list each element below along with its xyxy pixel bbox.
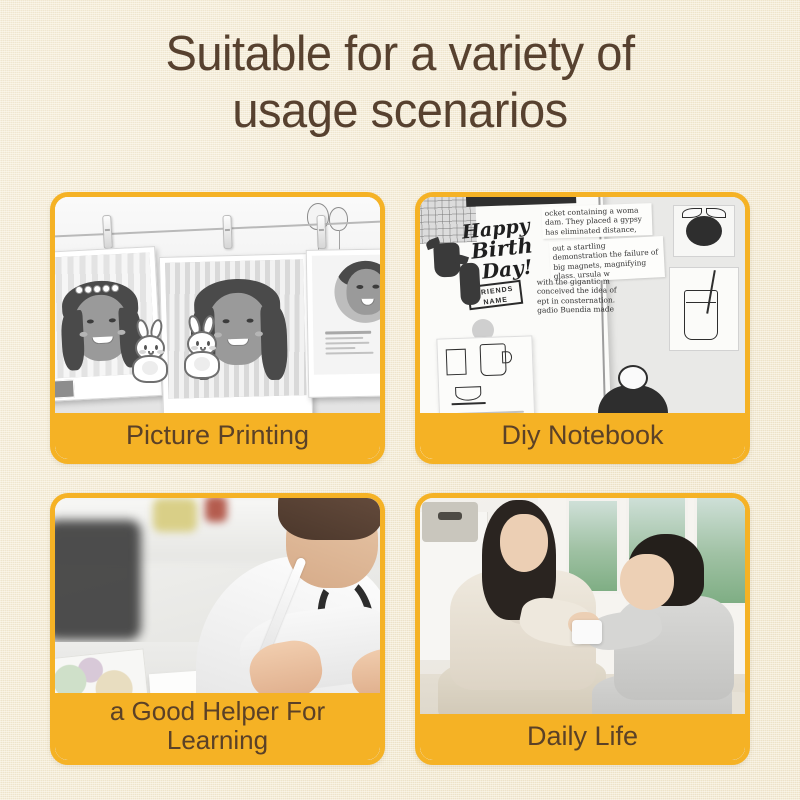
scenario-card-diy-notebook[interactable]: Happy Birth Day! FRIENDS NAME ocket cont… <box>415 192 750 464</box>
notebook-text-strip-1: ocket containing a woma dam. They placed… <box>541 203 652 239</box>
scenario-card-picture-printing[interactable]: Picture Printing <box>50 192 385 464</box>
page-title-line-2: usage scenarios <box>16 83 784 140</box>
scenario-card-daily-life[interactable]: Daily Life <box>415 493 750 765</box>
card-label-good-helper-for-learning: a Good Helper For Learning <box>55 693 380 760</box>
scenario-card-grid: Picture Printing Happy Birth Day! FRIEND… <box>50 192 750 765</box>
infographic-page: Suitable for a variety of usage scenario… <box>0 0 800 800</box>
scenario-card-good-helper-for-learning[interactable]: a Good Helper For Learning <box>50 493 385 765</box>
card-label-daily-life: Daily Life <box>420 714 745 760</box>
card-label-diy-notebook: Diy Notebook <box>420 413 745 459</box>
page-title-line-1: Suitable for a variety of <box>16 26 784 83</box>
notebook-text-strip-3: with the gigantic m conceived the idea o… <box>534 274 627 317</box>
page-title: Suitable for a variety of usage scenario… <box>16 26 784 140</box>
card-label-picture-printing: Picture Printing <box>55 413 380 459</box>
